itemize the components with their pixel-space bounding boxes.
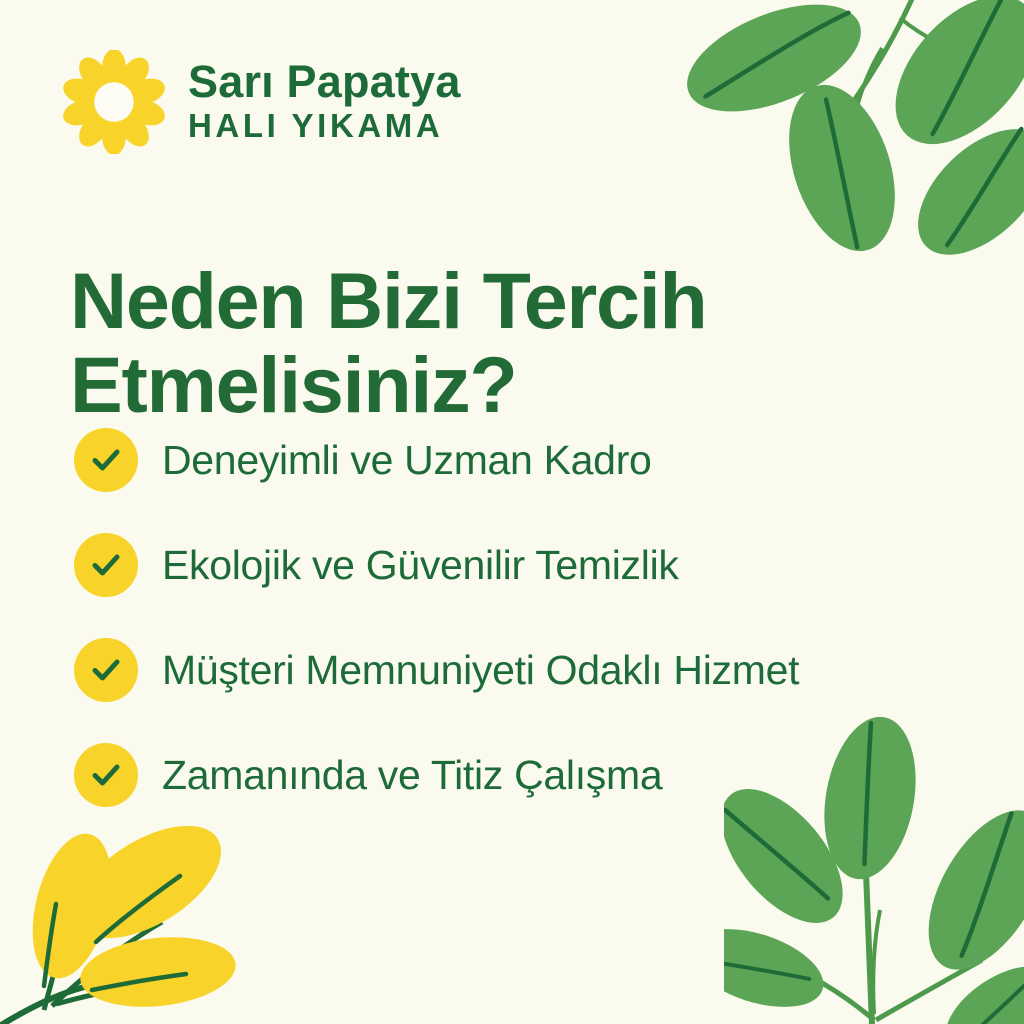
check-icon	[74, 743, 138, 807]
page-title: Neden Bizi Tercih Etmelisiniz?	[70, 259, 830, 428]
list-item: Müşteri Memnuniyeti Odaklı Hizmet	[74, 638, 994, 702]
list-item: Ekolojik ve Güvenilir Temizlik	[74, 533, 994, 597]
list-item: Zamanında ve Titiz Çalışma	[74, 743, 994, 807]
green-leaves-branch-top-right	[664, 0, 1024, 300]
poster-canvas: Sarı Papatya HALI YIKAMA Neden Bizi Terc…	[0, 0, 1024, 1024]
check-icon	[74, 638, 138, 702]
benefits-list: Deneyimli ve Uzman Kadro Ekolojik ve Güv…	[74, 428, 994, 807]
benefit-label: Zamanında ve Titiz Çalışma	[162, 755, 662, 796]
benefit-label: Deneyimli ve Uzman Kadro	[162, 440, 652, 481]
benefit-label: Ekolojik ve Güvenilir Temizlik	[162, 545, 679, 586]
check-icon	[74, 533, 138, 597]
brand-subtitle: HALI YIKAMA	[188, 107, 461, 145]
check-icon	[74, 428, 138, 492]
benefit-label: Müşteri Memnuniyeti Odaklı Hizmet	[162, 650, 799, 691]
daisy-flower-icon	[62, 50, 166, 154]
brand-logo-text: Sarı Papatya HALI YIKAMA	[188, 59, 461, 146]
yellow-leaves-sprig-bottom-left	[0, 814, 250, 1024]
list-item: Deneyimli ve Uzman Kadro	[74, 428, 994, 492]
brand-logo: Sarı Papatya HALI YIKAMA	[62, 50, 461, 154]
brand-title: Sarı Papatya	[188, 59, 461, 105]
